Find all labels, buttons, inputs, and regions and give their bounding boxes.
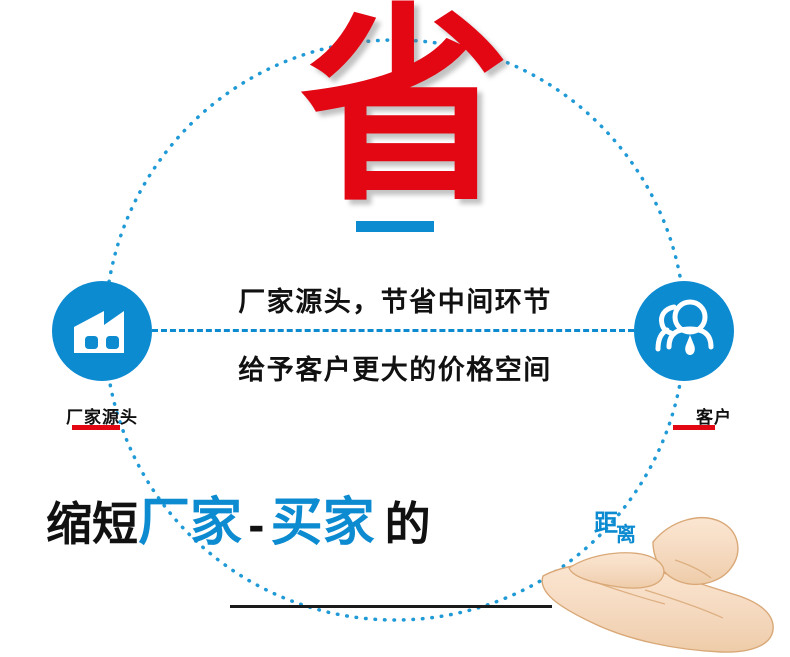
node-label-underline-customer <box>673 425 715 430</box>
headline-mini-word-1: 距 <box>594 503 618 538</box>
node-label-underline-factory <box>72 425 120 430</box>
hero-underline-bar <box>356 221 434 232</box>
headline-part-1: 缩短 <box>46 497 138 551</box>
headline-separator: - <box>242 504 271 550</box>
bottom-headline: 缩短厂家-买家的 <box>46 495 431 555</box>
bottom-rule <box>230 605 552 608</box>
node-customer[interactable] <box>634 281 734 381</box>
factory-icon <box>52 281 152 381</box>
headline-part-2: 厂家 <box>138 493 242 553</box>
customers-group-icon <box>634 281 734 381</box>
message-line-1: 厂家源头，节省中间环节 <box>150 280 640 319</box>
headline-part-4: 的 <box>385 497 431 551</box>
headline-part-3: 买家 <box>271 493 375 553</box>
hero-character: 省 <box>300 8 490 213</box>
node-factory[interactable] <box>52 281 152 381</box>
headline-mini-word-2: 离 <box>616 518 636 547</box>
message-line-2: 给予客户更大的价格空间 <box>150 348 640 387</box>
message-divider-dashed <box>152 329 634 332</box>
open-hand-pinch-illustration <box>525 498 790 657</box>
infographic-poster: 省 厂家源头 客户 厂家源头，节省中间环节 给予客户更大的价格空间 <box>0 0 790 657</box>
